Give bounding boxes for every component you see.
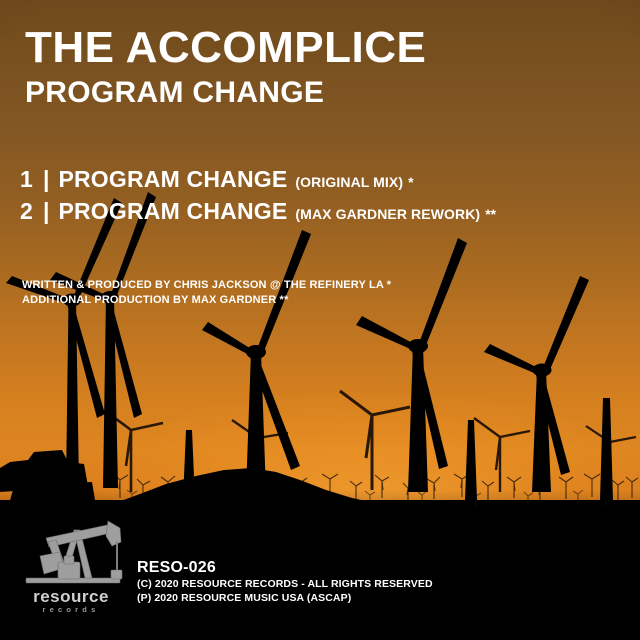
- production-credits: WRITTEN & PRODUCED BY CHRIS JACKSON @ TH…: [22, 278, 391, 308]
- track-version: (MAX GARDNER REWORK): [295, 206, 480, 222]
- track-row: 1 | PROGRAM CHANGE (ORIGINAL MIX) *: [20, 166, 496, 193]
- track-separator: |: [43, 166, 49, 193]
- catalog-and-legal: RESO-026 (C) 2020 RESOURCE RECORDS - ALL…: [137, 558, 433, 605]
- release-title: PROGRAM CHANGE: [25, 78, 324, 108]
- track-number: 1: [20, 166, 36, 193]
- credit-line: WRITTEN & PRODUCED BY CHRIS JACKSON @ TH…: [22, 278, 391, 293]
- track-row: 2 | PROGRAM CHANGE (MAX GARDNER REWORK) …: [20, 198, 496, 225]
- track-title: PROGRAM CHANGE: [58, 198, 287, 225]
- label-wordmark: resource: [19, 588, 123, 605]
- album-cover: THE ACCOMPLICE PROGRAM CHANGE 1 | PROGRA…: [0, 0, 640, 640]
- page-title: THE ACCOMPLICE: [25, 26, 426, 70]
- track-title: PROGRAM CHANGE: [58, 166, 287, 193]
- track-number: 2: [20, 198, 36, 225]
- phonographic-rights-line: (P) 2020 RESOURCE MUSIC USA (ASCAP): [137, 591, 433, 605]
- copyright-line: (C) 2020 RESOURCE RECORDS - ALL RIGHTS R…: [137, 577, 433, 591]
- track-version: (ORIGINAL MIX): [295, 174, 403, 190]
- track-credit-mark: *: [408, 174, 413, 190]
- credit-line: ADDITIONAL PRODUCTION BY MAX GARDNER **: [22, 293, 391, 308]
- tracklist: 1 | PROGRAM CHANGE (ORIGINAL MIX) * 2 | …: [20, 166, 496, 230]
- track-credit-mark: **: [485, 206, 496, 222]
- label-subword: records: [19, 605, 123, 614]
- track-separator: |: [43, 198, 49, 225]
- catalog-number: RESO-026: [137, 558, 433, 577]
